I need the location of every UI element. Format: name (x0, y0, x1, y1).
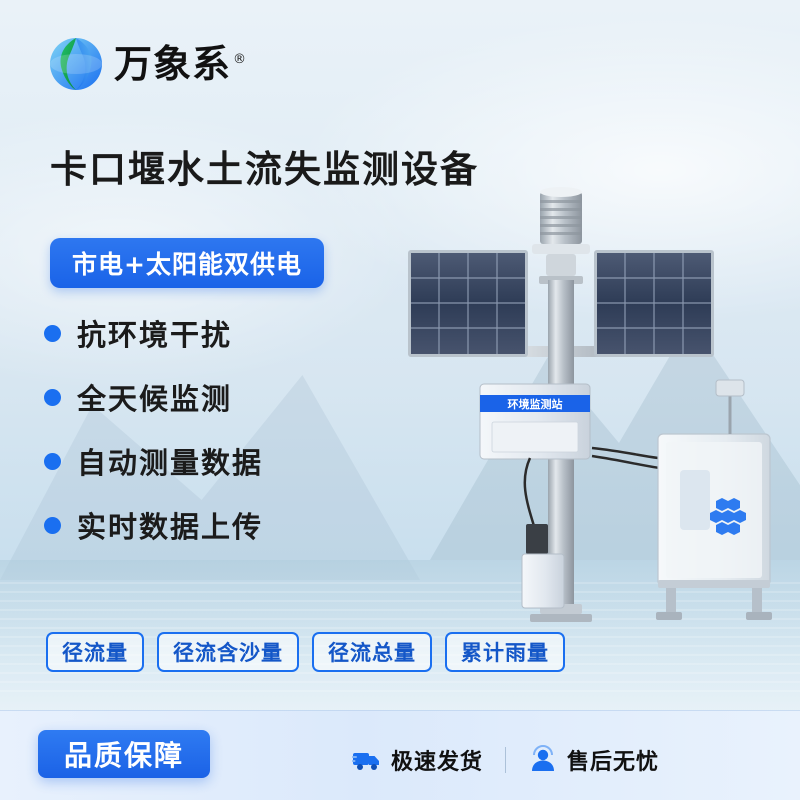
tag-item: 径流量 (46, 632, 144, 672)
bottom-service-bar: 品质保障 极速发货 (0, 710, 800, 800)
solar-panel-right (594, 250, 714, 357)
brand-logo: 万象系® (48, 36, 247, 92)
bullet-dot-icon (44, 453, 61, 470)
globe-swirl-logo-icon (48, 36, 104, 92)
service-label: 售后无忧 (567, 744, 659, 776)
station-label: 环境监测站 (508, 397, 563, 411)
service-item-aftersales: 售后无忧 (506, 744, 681, 776)
control-cabinet (656, 380, 772, 620)
feature-label: 抗环境干扰 (77, 312, 232, 354)
feature-item: 全天候监测 (44, 376, 263, 418)
feature-label: 自动测量数据 (77, 440, 263, 482)
solar-panel-left (408, 250, 528, 357)
power-supply-badge: 市电+太阳能双供电 (50, 238, 324, 288)
delivery-truck-icon (352, 745, 382, 775)
customer-service-person-icon (528, 745, 558, 775)
feature-label: 实时数据上传 (77, 504, 263, 546)
rain-gauge-top (532, 187, 590, 284)
bullet-dot-icon (44, 325, 61, 342)
service-divider (505, 747, 506, 773)
cable-left (525, 458, 534, 526)
device-illustration: 环境监测站 (380, 180, 780, 650)
brand-name-text: 万象系 (114, 42, 231, 86)
feature-item: 实时数据上传 (44, 504, 263, 546)
bullet-dot-icon (44, 517, 61, 534)
service-label: 极速发货 (391, 744, 483, 776)
feature-list: 抗环境干扰 全天候监测 自动测量数据 实时数据上传 (44, 312, 263, 546)
environment-monitoring-box: 环境监测站 (480, 384, 590, 459)
feature-item: 自动测量数据 (44, 440, 263, 482)
feature-item: 抗环境干扰 (44, 312, 263, 354)
feature-label: 全天候监测 (77, 376, 232, 418)
registered-mark: ® (233, 52, 247, 67)
tag-item: 径流含沙量 (157, 632, 299, 672)
bullet-dot-icon (44, 389, 61, 406)
service-list: 极速发货 售后无忧 (330, 744, 681, 776)
quality-guarantee-badge: 品质保障 (38, 730, 210, 778)
brand-name: 万象系® (114, 45, 247, 83)
service-item-shipping: 极速发货 (330, 744, 505, 776)
product-poster: 万象系® 卡口堰水土流失监测设备 市电+太阳能双供电 抗环境干扰 全天候监测 自… (0, 0, 800, 800)
